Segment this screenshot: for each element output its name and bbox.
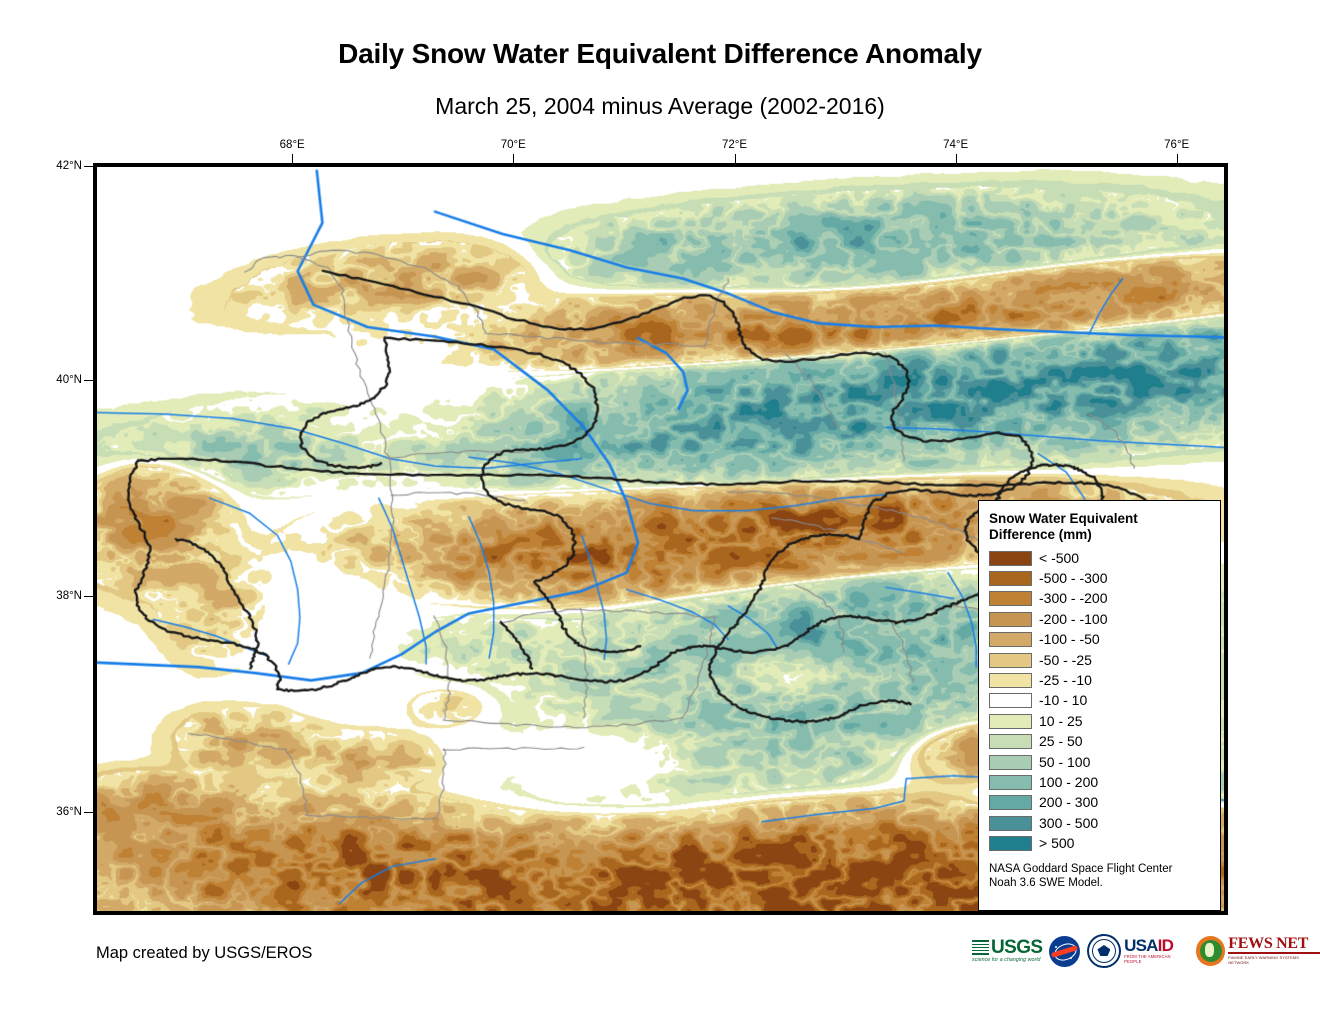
lat-tick-mark (84, 812, 93, 813)
lat-tick-label: 36°N (44, 806, 82, 818)
usaid-wordmark: USAID (1124, 938, 1188, 953)
legend-label: 100 - 200 (1039, 775, 1098, 790)
lon-tick-label: 68°E (280, 139, 305, 151)
lon-tick-mark (1177, 154, 1178, 163)
lat-tick-label: 40°N (44, 374, 82, 386)
legend-label: -500 - -300 (1039, 571, 1107, 586)
fewsnet-logo: FEWS NET FAMINE EARLY WARNING SYSTEMS NE… (1196, 934, 1320, 968)
nasa-meatball-icon (1049, 936, 1080, 967)
usgs-wordmark: USGS (991, 940, 1042, 956)
legend-swatch (989, 734, 1032, 749)
legend-swatch (989, 591, 1032, 606)
legend-label: > 500 (1039, 836, 1074, 851)
usaid-seal-icon (1087, 934, 1121, 968)
legend-label: 200 - 300 (1039, 795, 1098, 810)
legend-label: < -500 (1039, 551, 1079, 566)
legend-row: 50 - 100 (989, 752, 1220, 772)
page-title: Daily Snow Water Equivalent Difference A… (0, 38, 1320, 70)
legend-row: -100 - -50 (989, 630, 1220, 650)
legend-label: -25 - -10 (1039, 673, 1092, 688)
fewsnet-tagline: FAMINE EARLY WARNING SYSTEMS NETWORK (1228, 955, 1320, 965)
legend-source-line2: Noah 3.6 SWE Model. (989, 876, 1207, 890)
legend-row: < -500 (989, 548, 1220, 568)
lat-tick-label: 42°N (44, 160, 82, 172)
lon-tick-mark (956, 154, 957, 163)
legend-label: -200 - -100 (1039, 612, 1107, 627)
legend-row: -50 - -25 (989, 650, 1220, 670)
lon-tick-mark (292, 154, 293, 163)
usgs-logo: USGS science for a changing world (972, 934, 1042, 968)
legend-panel: Snow Water Equivalent Difference (mm) < … (978, 500, 1221, 911)
fewsnet-wordmark: FEWS NET (1228, 937, 1320, 951)
legend-label: -50 - -25 (1039, 653, 1092, 668)
lat-tick-mark (84, 166, 93, 167)
legend-title-line1: Snow Water Equivalent (989, 511, 1204, 527)
legend-row: -10 - 10 (989, 691, 1220, 711)
legend-swatch (989, 551, 1032, 566)
legend-row: > 500 (989, 833, 1220, 853)
page-subtitle: March 25, 2004 minus Average (2002-2016) (0, 93, 1320, 120)
legend-row: 300 - 500 (989, 813, 1220, 833)
legend-swatch (989, 571, 1032, 586)
legend-row: -500 - -300 (989, 568, 1220, 588)
legend-row: 200 - 300 (989, 793, 1220, 813)
legend-label: -100 - -50 (1039, 632, 1100, 647)
legend-swatch (989, 816, 1032, 831)
legend-swatch (989, 714, 1032, 729)
legend-row: 10 - 25 (989, 711, 1220, 731)
legend-title-line2: Difference (mm) (989, 527, 1204, 543)
lat-tick-mark (84, 596, 93, 597)
legend-title: Snow Water Equivalent Difference (mm) (989, 511, 1204, 543)
legend-label: -300 - -200 (1039, 591, 1107, 606)
legend-swatch (989, 693, 1032, 708)
usaid-logo: USAID FROM THE AMERICAN PEOPLE (1087, 934, 1188, 968)
lon-tick-label: 70°E (501, 139, 526, 151)
legend-row: 25 - 50 (989, 732, 1220, 752)
map-credit: Map created by USGS/EROS (96, 944, 312, 963)
lat-tick-label: 38°N (44, 590, 82, 602)
legend-swatch (989, 653, 1032, 668)
legend-swatch (989, 632, 1032, 647)
legend-label: 25 - 50 (1039, 734, 1083, 749)
fewsnet-globe-icon (1196, 936, 1226, 966)
legend-swatch (989, 755, 1032, 770)
agency-logo-row: USGS science for a changing world USAID … (972, 934, 1320, 968)
lon-tick-label: 72°E (722, 139, 747, 151)
legend-label: -10 - 10 (1039, 693, 1087, 708)
nasa-logo (1049, 934, 1080, 968)
legend-label: 300 - 500 (1039, 816, 1098, 831)
lat-tick-mark (84, 380, 93, 381)
legend-row: -300 - -200 (989, 589, 1220, 609)
usgs-wave-icon (972, 940, 989, 955)
legend-label: 10 - 25 (1039, 714, 1083, 729)
legend-source-line1: NASA Goddard Space Flight Center (989, 862, 1207, 876)
legend-swatch (989, 836, 1032, 851)
legend-label: 50 - 100 (1039, 755, 1090, 770)
legend-swatch (989, 775, 1032, 790)
lon-tick-mark (513, 154, 514, 163)
legend-row: -200 - -100 (989, 609, 1220, 629)
legend-swatch (989, 673, 1032, 688)
legend-source-note: NASA Goddard Space Flight Center Noah 3.… (989, 862, 1207, 890)
lon-tick-mark (735, 154, 736, 163)
legend-swatch (989, 795, 1032, 810)
usgs-tagline: science for a changing world (972, 957, 1042, 963)
legend-row: -25 - -10 (989, 670, 1220, 690)
lon-tick-label: 74°E (943, 139, 968, 151)
legend-row: 100 - 200 (989, 772, 1220, 792)
usaid-tagline: FROM THE AMERICAN PEOPLE (1124, 954, 1188, 964)
legend-class-list: < -500-500 - -300-300 - -200-200 - -100-… (989, 548, 1220, 854)
lon-tick-label: 76°E (1164, 139, 1189, 151)
legend-swatch (989, 612, 1032, 627)
